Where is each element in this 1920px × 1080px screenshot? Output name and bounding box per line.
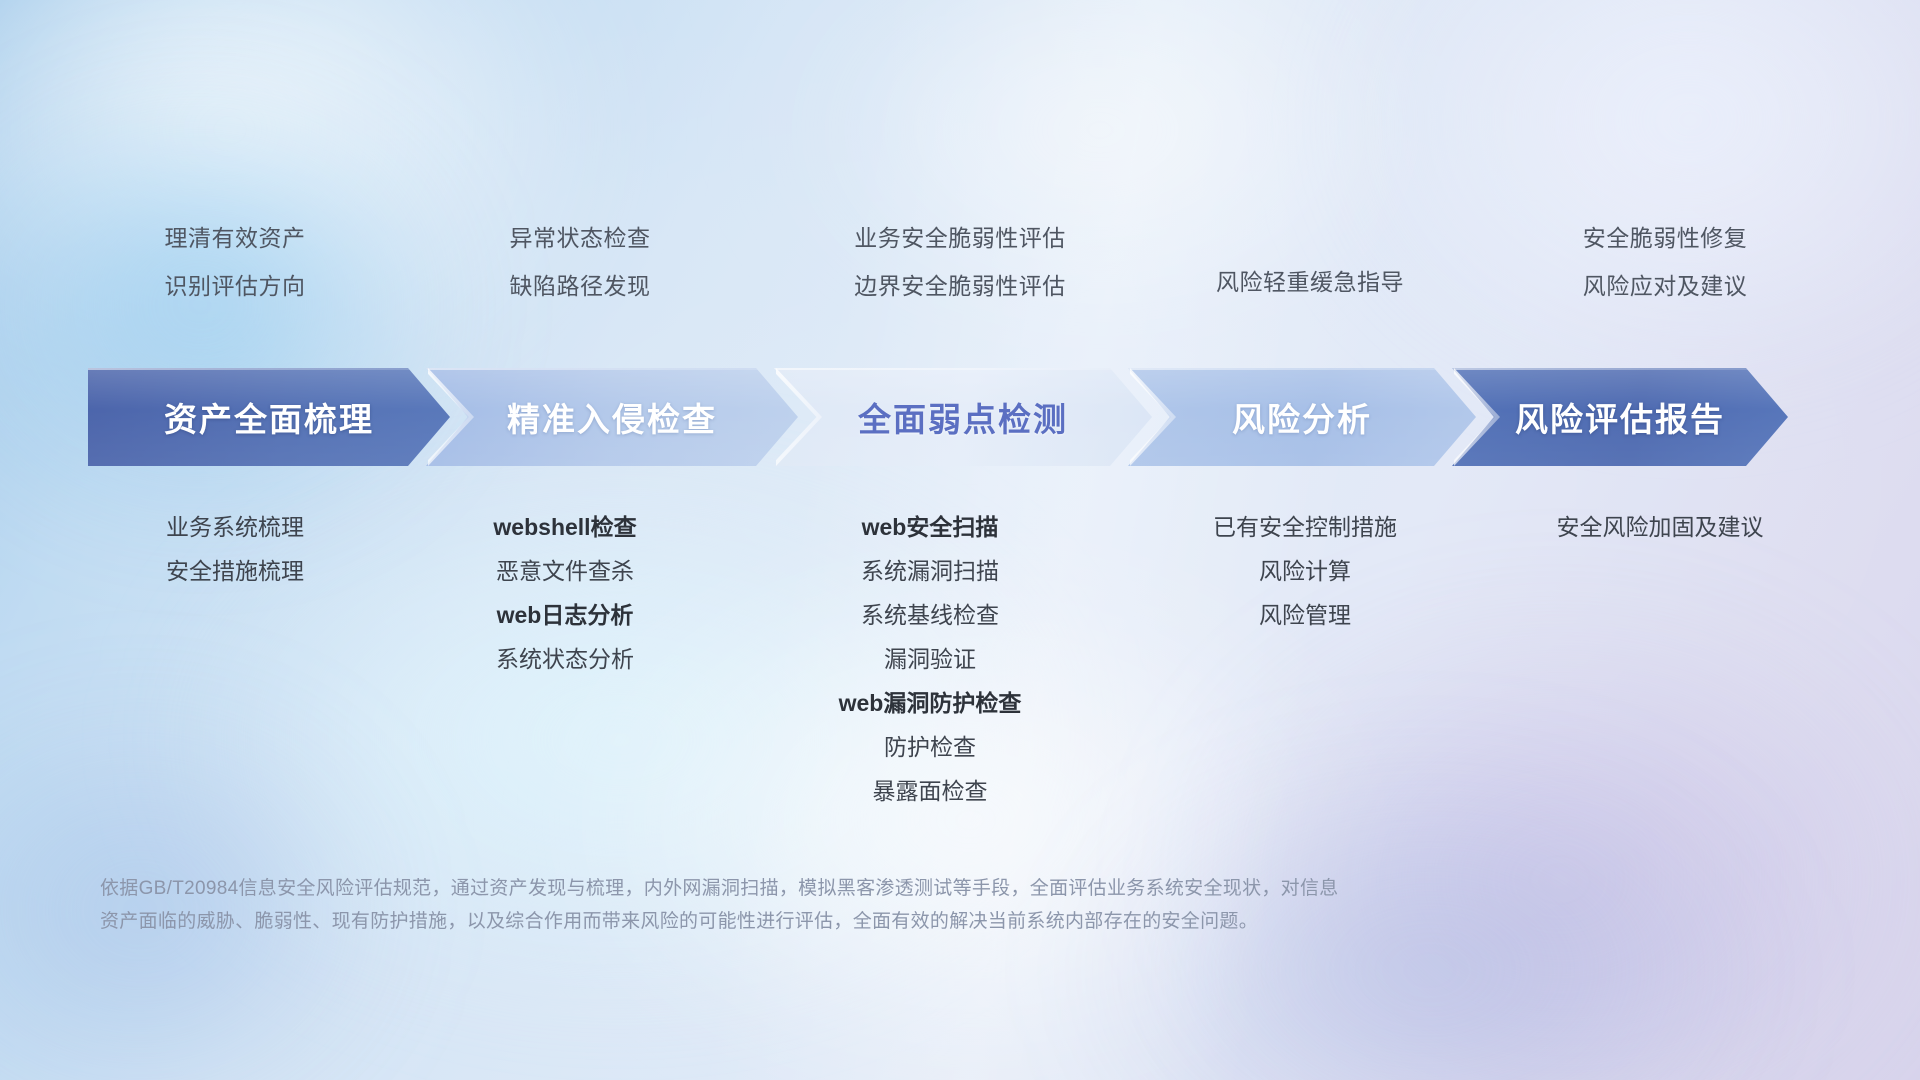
stage-tasks-risk-report: 安全风险加固及建议 [1450, 505, 1870, 549]
stage-chevron-risk-analysis[interactable]: 风险分析 [1128, 368, 1476, 466]
list-item: web安全扫描 [705, 505, 1155, 549]
stage-tasks-weakness-detection: web安全扫描 系统漏洞扫描 系统基线检查 漏洞验证 web漏洞防护检查 防护检… [705, 505, 1155, 813]
list-item: 风险计算 [1090, 549, 1520, 593]
list-item: 暴露面检查 [705, 769, 1155, 813]
stage-outcomes-risk-report: 安全脆弱性修复 风险应对及建议 [1455, 214, 1875, 310]
footer-description: 依据GB/T20984信息安全风险评估规范，通过资产发现与梳理，内外网漏洞扫描，… [100, 872, 1620, 938]
outcome-text: 安全脆弱性修复 [1455, 214, 1875, 262]
stage-label: 精准入侵检查 [507, 393, 717, 441]
process-diagram: 理清有效资产 识别评估方向 异常状态检查 缺陷路径发现 业务安全脆弱性评估 边界… [0, 0, 1920, 1080]
stage-chevron-weakness-detection[interactable]: 全面弱点检测 [774, 368, 1152, 466]
outcome-text: 风险应对及建议 [1455, 262, 1875, 310]
list-item: 安全风险加固及建议 [1450, 505, 1870, 549]
stage-chevron-asset-inventory[interactable]: 资产全面梳理 [88, 368, 450, 466]
footer-line-2: 资产面临的威胁、脆弱性、现有防护措施，以及综合作用而带来风险的可能性进行评估，全… [100, 905, 1620, 938]
list-item: 系统漏洞扫描 [705, 549, 1155, 593]
stage-outcomes-intrusion-check: 异常状态检查 缺陷路径发现 [375, 214, 785, 310]
list-item: web漏洞防护检查 [705, 681, 1155, 725]
list-item: 防护检查 [705, 725, 1155, 769]
list-item: 漏洞验证 [705, 637, 1155, 681]
list-item: 系统基线检查 [705, 593, 1155, 637]
outcome-text: 异常状态检查 [375, 214, 785, 262]
outcome-text: 业务安全脆弱性评估 [735, 214, 1185, 262]
stage-label: 全面弱点检测 [858, 393, 1068, 441]
stage-label: 风险评估报告 [1515, 393, 1725, 441]
stage-chevron-risk-report[interactable]: 风险评估报告 [1452, 368, 1788, 466]
stage-chevron-intrusion-check[interactable]: 精准入侵检查 [426, 368, 798, 466]
footer-line-1: 依据GB/T20984信息安全风险评估规范，通过资产发现与梳理，内外网漏洞扫描，… [100, 872, 1620, 905]
outcome-text: 缺陷路径发现 [375, 262, 785, 310]
stage-label: 资产全面梳理 [164, 393, 374, 441]
stage-label: 风险分析 [1232, 393, 1372, 441]
process-stage-band: 资产全面梳理 精准入侵检查 全面弱点检测 风险分析 风险评估报告 [88, 368, 1788, 466]
list-item: 风险管理 [1090, 593, 1520, 637]
